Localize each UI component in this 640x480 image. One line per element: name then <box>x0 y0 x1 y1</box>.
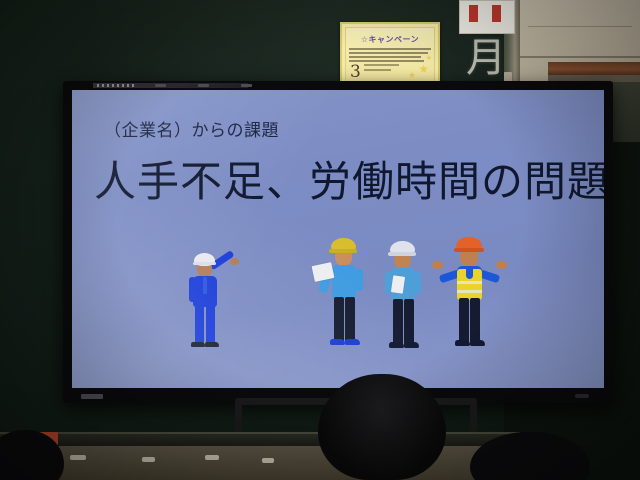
tv-brand-logo <box>81 394 103 399</box>
tv-power-led <box>575 394 589 398</box>
campaign-poster: ☆キャンペーン 3 ★ ★ ★ <box>340 22 440 88</box>
right-leg <box>470 298 480 342</box>
poster-star-small: ★ <box>408 71 416 81</box>
right-leg <box>345 297 355 341</box>
poster-star-large: ★ <box>418 62 429 76</box>
shirt <box>332 265 356 299</box>
hand-raised <box>230 258 239 265</box>
chalk-piece-1 <box>70 455 86 460</box>
helmet-brim <box>329 249 357 253</box>
left-shoe <box>389 342 404 348</box>
figure-worker-white-helmet <box>374 236 432 362</box>
audience-head-center <box>318 374 446 480</box>
vest-stripe-lower <box>457 290 482 293</box>
figure-worker-yellow-helmet <box>315 233 375 361</box>
white-sign <box>459 0 515 34</box>
left-leg <box>459 298 469 342</box>
poster-title: ☆キャンペーン <box>342 34 438 45</box>
vest-collar-opening <box>466 268 473 279</box>
right-shoe <box>345 339 360 345</box>
slide-subtitle: （企業名）からの課題 <box>104 116 279 141</box>
figure-worker-orange-vest <box>432 233 510 361</box>
tv-speaker-grille <box>97 84 137 87</box>
right-leg <box>404 299 414 344</box>
wall-shelf <box>548 62 640 75</box>
poster-sub-lines <box>364 64 414 74</box>
tv-button-3[interactable] <box>241 84 252 87</box>
left-shoe <box>191 342 205 347</box>
clipboard <box>391 275 405 294</box>
television: （企業名）からの課題 人手不足、労働時間の問題 <box>63 81 613 403</box>
helmet-brim <box>454 248 484 252</box>
classroom-scene: 月 ☆キャンペーン 3 ★ ★ ★ （企業名）からの課題 人手不足、労働時間の問… <box>0 0 640 480</box>
left-leg <box>195 305 204 344</box>
vest-stripe-upper <box>457 281 482 284</box>
right-shoe <box>404 342 419 348</box>
sign-red-mark-right <box>492 5 501 22</box>
wall-seam <box>516 56 640 58</box>
chalk-piece-3 <box>205 455 219 460</box>
tv-button-2[interactable] <box>198 84 209 87</box>
right-shoe <box>470 340 485 346</box>
chalk-character: 月 <box>466 36 506 84</box>
chalk-piece-2 <box>142 457 155 462</box>
left-arm <box>189 277 196 302</box>
figure-businessman-pointing <box>180 248 240 358</box>
helmet-brim <box>388 252 416 256</box>
poster-star-tiny: ★ <box>426 54 432 62</box>
tv-screen: （企業名）からの課題 人手不足、労働時間の問題 <box>72 90 604 388</box>
left-leg <box>334 297 344 341</box>
chalk-piece-4 <box>262 458 274 463</box>
left-leg <box>393 299 403 344</box>
sign-red-mark-left <box>469 5 478 22</box>
slide-title: 人手不足、労働時間の問題 <box>94 148 604 209</box>
poster-number: 3 <box>350 62 361 82</box>
right-arm <box>413 272 421 294</box>
right-hand <box>496 261 507 269</box>
wall-seam-upper <box>528 26 632 27</box>
right-shoe <box>205 342 219 347</box>
necktie <box>203 277 207 294</box>
right-arm <box>355 269 363 291</box>
tv-button-1[interactable] <box>155 84 166 87</box>
left-shoe <box>455 340 470 346</box>
document-paper <box>312 262 335 282</box>
left-shoe <box>330 339 345 345</box>
right-leg <box>206 305 215 344</box>
left-hand <box>432 261 443 269</box>
helmet-brim <box>193 262 216 265</box>
